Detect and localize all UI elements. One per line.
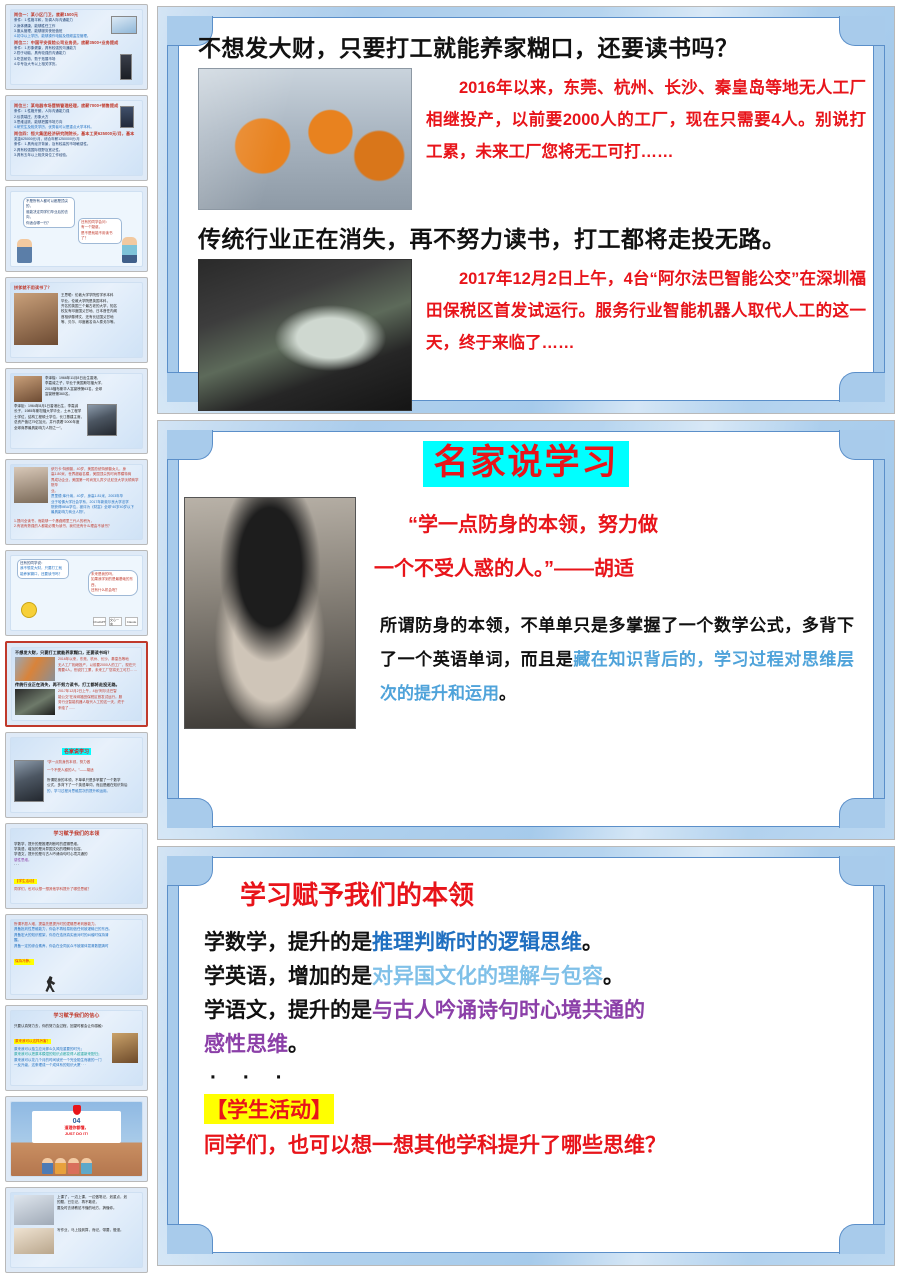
thumb-body: “学一点防身的本领，努力做 一个不受人惑的人。”——胡适 所谓防身的本领，不单单… — [14, 760, 139, 802]
thumbnail-content: 不想发大财，只要打工就能养家糊口，还要读书吗？ 2016年以来，东莞、杭州、长沙… — [11, 647, 142, 721]
thumb-line: 富豪榜第360名。 — [45, 392, 105, 397]
slide-title-wrap: 名家说学习 — [184, 441, 868, 487]
thumb-line: 同学们，也可以想一想其他学科提升了哪些思维？ — [14, 887, 139, 892]
thumbnail-books-image — [112, 1033, 138, 1063]
sidebar-thumbnail-10[interactable]: 学习赋予我们的本领 学数学，提升的是推理判断时的逻辑思维。 学英语，增加的是对异… — [5, 823, 148, 909]
thumb-text-block: 2017年12月2日上午，4台“阿尔法巴智 能公交”在深圳福田保税区首发试运行。… — [58, 689, 125, 715]
thumbnail-content: 还有的同学说： 我不想发大财，只要打工就 能养家糊口，还要读书吗？ 未来是我的吗… — [10, 555, 143, 631]
quote-line-1: “学一点防身的本领，努力做 — [374, 503, 868, 547]
person-icon — [68, 1158, 79, 1174]
slide-row-1: 2016年以来，东莞、杭州、长沙、秦皇岛等地无人工厂相继投产，以前要2000人的… — [198, 68, 866, 210]
item-prefix: 学语文，提升的是 — [204, 999, 372, 1022]
people-illustration — [42, 1158, 92, 1174]
thumb-line: 写作业，马上独到算，而记，带要，慢漫。 — [57, 1228, 124, 1254]
ellipsis-dots: · · · — [188, 1062, 864, 1094]
thumbnail-content: 不是所有人都可以都是顶尖的， 谁能决定同学们毕业后的去向， 你适合哪一行？ 还有… — [10, 191, 143, 267]
speech-bubble-left: 还有的同学说： 我不想发大财，只要打工就 能养家糊口，还要读书吗？ — [17, 559, 69, 579]
thumbnail-bus-image — [15, 689, 55, 715]
thumb-line: 总资产值达75亿加元，并代表着“2000年度 — [14, 420, 84, 425]
thumb-line: 3.具有五年以上相关岗位工作经验。 — [14, 153, 139, 158]
thumbnail-content: 所谓不愿人难，提高先是提升时的逻辑思考判断能力。 具备批判性思维能力，你会不再轻… — [10, 919, 143, 995]
shield-badge-icon — [73, 1105, 81, 1115]
page-title: 学习赋予我们的本领 — [240, 875, 864, 912]
thumb-line: 2.有钱有势强的人都能必需为读书，我们还有什么理由不读书？ — [14, 524, 139, 529]
speech-bubble-right: 未来是我的吗， 如果我学到的是最基础的东西， 还有什么机会呢？ — [88, 570, 138, 596]
slide-paragraph-1: 2016年以来，东莞、杭州、长沙、秦皇岛等地无人工厂相继投产，以前要2000人的… — [426, 68, 866, 169]
thumb-line: 需要4人。别说打工累，未来工厂您将无工可打…… — [58, 668, 137, 673]
thumb-body: 李泽楷：1966年11月8日出生香港， 李嘉诚之子，毕业于美国斯坦福大学， 20… — [14, 376, 139, 402]
slide-thumbnail-sidebar[interactable]: 岗位一：某小区门卫，底薪1500元 条件：1.性格平和，协调人际沟通能力 2.身… — [0, 0, 155, 1286]
thumb-line: 传统行业正在消失，再不努力读书，打工都将走投无路。 — [15, 682, 138, 688]
list-item: 学英语，增加的是对异国文化的理解与包容。 — [204, 960, 864, 994]
thumb-body-2: 2017年12月2日上午，4台“阿尔法巴智 能公交”在深圳福田保税区首发试运行。… — [15, 689, 138, 715]
thumb-body-2: 李泽钜：1964年8月1日香港出生，李嘉诚 长子，1985年斯坦福大学毕业，土木… — [14, 404, 139, 436]
item-highlight: 推理判断时的逻辑思维 — [372, 931, 582, 954]
thumb-activity-wrap: 【学生活动】 — [14, 869, 139, 887]
thumb-line: 【学生活动】 — [14, 879, 37, 884]
thumb-title: 学习赋予我们的信心 — [14, 1013, 139, 1021]
sidebar-thumbnail-6[interactable]: 伊万卡·特朗普，40岁，美国总统特朗普女儿，身 高1.80米，世界超级名模，美国… — [5, 459, 148, 545]
slide-content: 不想发大财，只要打工就能养家糊口，还要读书吗？ 2016年以来，东莞、杭州、长沙… — [158, 7, 894, 413]
item-highlight: 与古人吟诵诗句时心境共通的 — [372, 999, 645, 1022]
item-highlight-wrap: 感性思维 — [204, 1033, 288, 1056]
sidebar-thumbnail-9[interactable]: 名家说学习 “学一点防身的本领，努力做 一个不受人惑的人。”——胡适 所谓防身的… — [5, 732, 148, 818]
slide-subtitle-2: JUST DO IT! — [65, 1131, 88, 1136]
thumb-line: 要及时去请教尼不懂的地方，搞懂你。 — [57, 1206, 127, 1211]
sidebar-thumbnail-14[interactable]: 上课了，一边上课，一边做笔记，划重点，划 的题，已忘记，再不敢说， 要及时去请教… — [5, 1187, 148, 1273]
thumbnail-portrait — [14, 293, 58, 345]
slide-content: 名家说学习 “学一点防身的本领，努力做 一个不受人惑的人。”——胡适 所谓防身的… — [158, 421, 894, 839]
thumb-body: 王思聪：伦敦大学学院哲学系本科 毕业。伦敦大学院是英国本科， 齐名的英国三个最古… — [14, 293, 139, 345]
list-item: 学语文，提升的是与古人吟诵诗句时心境共通的 — [204, 994, 864, 1028]
quote-line-2: 一个不受人惑的人。”——胡适 — [374, 547, 868, 591]
thumbnail-content: 上课了，一边上课，一边做笔记，划重点，划 的题，已忘记，再不敢说， 要及时去请教… — [10, 1192, 143, 1268]
slide-skills-learning-gives[interactable]: 学习赋予我们的本领 学数学，提升的是推理判断时的逻辑思维。 学英语，增加的是对异… — [157, 846, 895, 1266]
thumb-text-block: 伊万卡·特朗普，40岁，美国总统特朗普女儿，身 高1.80米，世界超级名模，美国… — [51, 467, 139, 516]
thumbnail-content: 李泽楷：1966年11月8日出生香港， 李嘉诚之子，毕业于美国斯坦福大学， 20… — [10, 373, 143, 449]
slide-content: 学习赋予我们的本领 学数学，提升的是推理判断时的逻辑思维。 学英语，增加的是对异… — [158, 847, 894, 1265]
thumb-line: 全球商界最具影响力人物之一”。 — [14, 426, 84, 431]
quote-text: “学一点防身的本领，努力做 一个不受人惑的人。”——胡适 — [374, 497, 868, 591]
thumb-line: 2016年以来，东莞、杭州、长沙、秦皇岛等地 — [58, 657, 137, 662]
thumb-line: 原来我可以这样厉害！ — [14, 1039, 51, 1044]
sidebar-thumbnail-8-selected[interactable]: 不想发大财，只要打工就能养家糊口，还要读书吗？ 2016年以来，东莞、杭州、长沙… — [5, 641, 148, 727]
slide-no-rich-work[interactable]: 不想发大财，只要打工就能养家糊口，还要读书吗？ 2016年以来，东莞、杭州、长沙… — [157, 6, 895, 414]
sidebar-thumbnail-2[interactable]: 岗位三：某电器市场营销管理经理，底薪7000+销售提成 条件：1.性格开朗，人际… — [5, 95, 148, 181]
thumb-text-block: 王思聪：伦敦大学学院哲学系本科 毕业。伦敦大学院是英国本科， 齐名的英国三个最古… — [61, 293, 117, 345]
thumbnail-content: 学习赋予我们的信心 只要认真努力去，你的努力会过程，回望时都会让你感触： 原来我… — [10, 1010, 143, 1086]
page-title: 名家说学习 — [423, 441, 628, 487]
item-prefix: 学英语，增加的是 — [204, 965, 372, 988]
claude-logo-icon: Claude — [125, 617, 138, 626]
quote-block: “学一点防身的本领，努力做 一个不受人惑的人。”——胡适 所谓防身的本领，不单单… — [374, 497, 868, 729]
thumb-line: 务行业智能机器人取代人工的这一天，终于 — [58, 700, 125, 705]
item-suffix: 。 — [603, 965, 624, 988]
activity-label-wrap: 【学生活动】 — [188, 1094, 864, 1124]
thumb-title-wrap: 名家说学习 — [14, 740, 139, 758]
thumb-line: 不是所有人都可以都是顶尖的， — [26, 199, 72, 210]
thumbnail-content: 拼爹就不用读书了？ 王思聪：伦敦大学学院哲学系本科 毕业。伦敦大学院是英国本科，… — [10, 282, 143, 358]
thumb-line: 保持冷静。 — [14, 959, 34, 964]
item-prefix: 学数学，提升的是 — [204, 931, 372, 954]
body-tail-text: 。 — [499, 684, 516, 703]
wenxin-logo-icon: 文心一言 — [109, 617, 122, 626]
slide-04-card: 04 道理你都懂， JUST DO IT! — [32, 1111, 121, 1144]
sidebar-thumbnail-3[interactable]: 不是所有人都可以都是顶尖的， 谁能决定同学们毕业后的去向， 你适合哪一行？ 还有… — [5, 186, 148, 272]
thumb-line: 一个不受人惑的人。”——胡适 — [47, 768, 128, 773]
industrial-robot-photo — [198, 68, 412, 210]
thumb-title: 名家说学习 — [62, 748, 91, 755]
thumb-line: “学一点防身的本领，努力做 — [47, 760, 128, 765]
thumb-line: 是不是就能不用读书了？ — [81, 231, 119, 242]
sidebar-thumbnail-12[interactable]: 学习赋予我们的信心 只要认真努力去，你的努力会过程，回望时都会让你感触： 原来我… — [5, 1005, 148, 1091]
thumbnail-content: 伊万卡·特朗普，40岁，美国总统特朗普女儿，身 高1.80米，世界超级名模，美国… — [10, 464, 143, 540]
sidebar-thumbnail-5[interactable]: 李泽楷：1966年11月8日出生香港， 李嘉诚之子，毕业于美国斯坦福大学， 20… — [5, 368, 148, 454]
thumb-body-2: 写作业，马上独到算，而记，带要，慢漫。 — [14, 1228, 139, 1254]
activity-label: 【学生活动】 — [204, 1094, 334, 1124]
thumb-body: 伊万卡·特朗普，40岁，美国总统特朗普女儿，身 高1.80米，世界超级名模，美国… — [14, 467, 139, 516]
chatgpt-logo-icon: ChatGPT — [93, 617, 106, 626]
slide-heading-1: 不想发大财，只要打工就能养家糊口，还要读书吗？ — [198, 29, 866, 63]
thumb-line: 界成功企业，美国第一时尚宠儿宾夕法尼亚大学沃顿商学院毕 — [51, 478, 139, 489]
list-item-continuation: 感性思维。 — [204, 1028, 864, 1062]
thumbnail-portrait — [14, 376, 42, 402]
smiley-face-icon — [21, 602, 37, 618]
sidebar-thumbnail-1[interactable]: 岗位一：某小区门卫，底薪1500元 条件：1.性格平和，协调人际沟通能力 2.身… — [5, 4, 148, 90]
thumb-body: 上课了，一边上课，一边做笔记，划重点，划 的题，已忘记，再不敢说， 要及时去请教… — [14, 1195, 139, 1225]
thumbnail-image — [120, 106, 134, 128]
thumb-line: 王思聪：伦敦大学学院哲学系本科 — [61, 293, 117, 298]
thumb-title: 不想发大财，只要打工就能养家糊口，还要读书吗？ — [15, 650, 138, 656]
thumbnail-content: 名家说学习 “学一点防身的本领，努力做 一个不受人惑的人。”——胡适 所谓防身的… — [10, 737, 143, 813]
skills-list: 学数学，提升的是推理判断时的逻辑思维。 学英语，增加的是对异国文化的理解与包容。… — [188, 926, 864, 1062]
thumb-body: 2016年以来，东莞、杭州、长沙、秦皇岛等地 无人工厂相继投产，以前要2000人… — [15, 657, 138, 681]
thumb-text-block: “学一点防身的本领，努力做 一个不受人惑的人。”——胡适 所谓防身的本领，不单单… — [47, 760, 128, 802]
thumb-title: 学习赋予我们的本领 — [14, 831, 139, 839]
item-suffix: 。 — [288, 1033, 309, 1056]
thumb-text-block: 李泽楷：1966年11月8日出生香港， 李嘉诚之子，毕业于美国斯坦福大学， 20… — [45, 376, 105, 402]
thumbnail-content: 04 道理你都懂， JUST DO IT! — [10, 1101, 143, 1177]
thumbnail-content: 岗位三：某电器市场营销管理经理，底薪7000+销售提成 条件：1.性格开朗，人际… — [10, 100, 143, 176]
slide-heading-2: 传统行业正在消失，再不努力读书，打工都将走投无路。 — [198, 220, 866, 254]
thumb-highlight-wrap: 保持冷静。 — [14, 949, 139, 967]
activity-question: 同学们，也可以想一想其他学科提升了哪些思维？ — [188, 1128, 864, 1164]
thumb-line: 能养家糊口，还要读书吗？ — [20, 572, 66, 577]
thumb-line: 如果我学到的是最基础的东西， — [91, 577, 135, 588]
thumb-line: 你适合哪一行？ — [26, 221, 72, 226]
thumb-line: 等、贝尔、印度著名诗人泰戈尔等。 — [61, 320, 117, 325]
list-item: 学数学，提升的是推理判断时的逻辑思维。 — [204, 926, 864, 960]
thumbnail-image — [111, 16, 137, 34]
thumb-line: 一反升级，这条理成一个成体系的知识大厦· · · — [14, 1063, 139, 1068]
thumb-line: 来临了…… — [58, 706, 125, 711]
thumbnail-desk-image-2 — [14, 1228, 54, 1254]
thumbnail-portrait — [14, 760, 44, 802]
slide-row: “学一点防身的本领，努力做 一个不受人惑的人。”——胡适 所谓防身的本领，不单单… — [184, 497, 868, 729]
slide-row-2: 2017年12月2日上午，4台“阿尔法巴智能公交”在深圳福田保税区首发试运行。服… — [198, 259, 866, 411]
speech-bubble-left: 不是所有人都可以都是顶尖的， 谁能决定同学们毕业后的去向， 你适合哪一行？ — [23, 197, 75, 228]
thumbnail-portrait-2 — [87, 404, 117, 436]
sidebar-thumbnail-7[interactable]: 还有的同学说： 我不想发大财，只要打工就 能养家糊口，还要读书吗？ 未来是我的吗… — [5, 550, 148, 636]
thumbnail-robot-image — [15, 657, 55, 681]
thumb-text-block: 2016年以来，东莞、杭州、长沙、秦皇岛等地 无人工厂相继投产，以前要2000人… — [58, 657, 137, 681]
item-suffix: 。 — [582, 931, 603, 954]
person-icon — [42, 1158, 53, 1174]
sidebar-thumbnail-11[interactable]: 所谓不愿人难，提高先是提升时的逻辑思考判断能力。 具备批判性思维能力，你会不再轻… — [5, 914, 148, 1000]
thumbnail-content: 岗位一：某小区门卫，底薪1500元 条件：1.性格平和，协调人际沟通能力 2.身… — [10, 9, 143, 85]
teacher-avatar-icon — [17, 239, 32, 263]
thumbnail-image — [120, 54, 132, 80]
thumb-line: 的，学习过程对思维层次的提升和运用。 — [47, 789, 128, 794]
thumb-title: 拼爹就不用读书了？ — [14, 285, 139, 291]
sidebar-thumbnail-13[interactable]: 04 道理你都懂， JUST DO IT! — [5, 1096, 148, 1182]
slide-paragraph-2: 2017年12月2日上午，4台“阿尔法巴智能公交”在深圳福田保税区首发试运行。服… — [426, 259, 866, 360]
running-man-icon — [45, 976, 57, 992]
slide-viewer-app: 岗位一：某小区门卫，底薪1500元 条件：1.性格平和，协调人际沟通能力 2.身… — [0, 0, 900, 1286]
student-avatar-icon — [122, 237, 137, 263]
person-icon — [55, 1158, 66, 1174]
thumb-line: 最具影响力商业人物”。 — [51, 510, 139, 515]
speech-bubble-right: 还有的同学会问： 有一个疑惑， 是不是就能不用读书了？ — [78, 218, 122, 244]
hu-shi-portrait-photo — [184, 497, 356, 729]
person-icon — [81, 1158, 92, 1174]
thumbnail-desk-image-1 — [14, 1195, 54, 1225]
slide-stage: 不想发大财，只要打工就能养家糊口，还要读书吗？ 2016年以来，东莞、杭州、长沙… — [155, 0, 900, 1286]
ai-logo-row: ChatGPT 文心一言 Claude — [93, 617, 138, 626]
thumb-line: 公式，多背下了一个英语单词，而且是藏在知识背后 — [47, 783, 128, 788]
thumbnail-wedding-photo — [14, 467, 48, 503]
thumb-line: 还有什么机会呢？ — [91, 588, 135, 593]
thumb-text-block: 上课了，一边上课，一边做笔记，划重点，划 的题，已忘记，再不敢说， 要及时去请教… — [57, 1195, 127, 1225]
item-highlight: 对异国文化的理解与包容 — [372, 965, 603, 988]
thumb-line: 谁能决定同学们毕业后的去向， — [26, 210, 72, 221]
slide-famous-on-learning[interactable]: 名家说学习 “学一点防身的本领，努力做 一个不受人惑的人。”——胡适 所谓防身的… — [157, 420, 895, 840]
body-paragraph: 所谓防身的本领，不单单只是多掌握了一个数学公式，多背下了一个英语单词，而且是藏在… — [374, 609, 868, 711]
thumb-text-block: 李泽钜：1964年8月1日香港出生，李嘉诚 长子，1985年斯坦福大学毕业，土木… — [14, 404, 84, 436]
sidebar-thumbnail-4[interactable]: 拼爹就不用读书了？ 王思聪：伦敦大学学院哲学系本科 毕业。伦敦大学院是英国本科，… — [5, 277, 148, 363]
thumbnail-content: 学习赋予我们的本领 学数学，提升的是推理判断时的逻辑思维。 学英语，增加的是对异… — [10, 828, 143, 904]
driverless-bus-photo — [198, 259, 412, 411]
thumb-line: 2017年12月2日上午，4台“阿尔法巴智 — [58, 689, 125, 694]
